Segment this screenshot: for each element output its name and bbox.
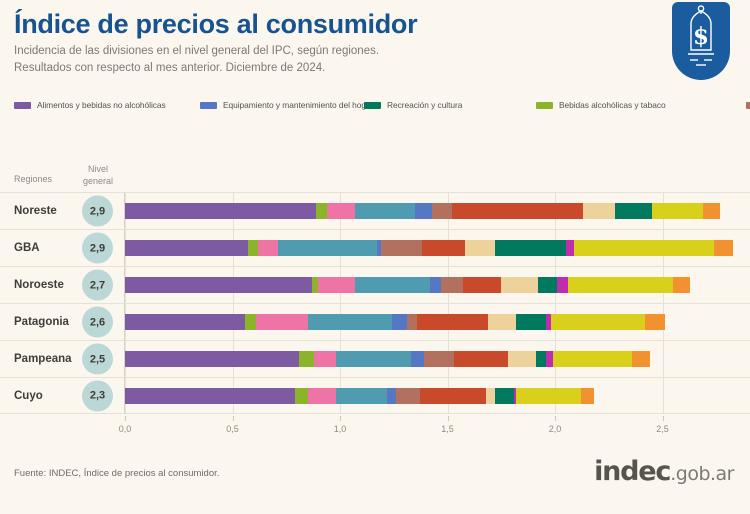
bar-segment[interactable] [495, 240, 566, 256]
bar-segment[interactable] [424, 351, 454, 367]
bar-segment[interactable] [574, 240, 714, 256]
bar-segment[interactable] [392, 314, 407, 330]
bar-segment[interactable] [488, 314, 516, 330]
header: Índice de precios al consumidor Incidenc… [0, 0, 750, 90]
bar-segment[interactable] [486, 388, 495, 404]
region-label: GBA [14, 242, 40, 254]
region-label: Noreste [14, 205, 57, 217]
chart-legend: Alimentos y bebidas no alcohólicasEquipa… [14, 98, 742, 112]
bar-segment[interactable] [278, 240, 377, 256]
indec-brand-logo[interactable]: indec.gob.ar [594, 456, 734, 487]
svg-text:$: $ [693, 23, 709, 50]
bar-segment[interactable] [256, 314, 308, 330]
bar-segment[interactable] [308, 314, 392, 330]
axis-tick-label: 2,0 [549, 424, 562, 434]
indec-shield-icon: $ [672, 2, 730, 80]
bar-segment[interactable] [516, 388, 581, 404]
header-nivel-line2: general [76, 176, 120, 188]
legend-swatch-icon [14, 102, 31, 109]
bar-segment[interactable] [632, 351, 649, 367]
stacked-bar [125, 203, 750, 219]
bar-segment[interactable] [420, 388, 487, 404]
bar-segment[interactable] [318, 277, 355, 293]
bar-segment[interactable] [615, 203, 652, 219]
table-row[interactable]: Noroeste2,7 [0, 266, 750, 303]
header-nivel-general: Nivel general [76, 164, 120, 187]
source-note: Fuente: INDEC, Índice de precios al cons… [14, 468, 219, 479]
bar-segment[interactable] [495, 388, 514, 404]
bar-segment[interactable] [411, 351, 424, 367]
nivel-general-badge: 2,9 [82, 233, 113, 264]
stacked-bar [125, 277, 750, 293]
table-row[interactable]: Noreste2,9 [0, 192, 750, 229]
axis-tick-mark [663, 416, 664, 421]
bar-segment[interactable] [336, 351, 411, 367]
bar-segment[interactable] [538, 277, 557, 293]
bar-segment[interactable] [245, 314, 256, 330]
brand-sub-text: .gob.ar [670, 463, 734, 485]
table-row[interactable]: GBA2,9 [0, 229, 750, 266]
bar-segment[interactable] [314, 351, 336, 367]
bar-segment[interactable] [381, 240, 422, 256]
axis-tick-mark [448, 416, 449, 421]
bar-segment[interactable] [454, 351, 508, 367]
bar-segment[interactable] [355, 277, 430, 293]
bar-segment[interactable] [125, 314, 245, 330]
header-regiones: Regiones [14, 174, 52, 184]
bar-segment[interactable] [536, 351, 547, 367]
region-label: Pampeana [14, 353, 72, 365]
legend-item[interactable]: Bebidas alcohólicas y tabaco [536, 98, 746, 112]
bar-segment[interactable] [415, 203, 432, 219]
bar-segment[interactable] [566, 240, 575, 256]
page-subtitle-line2: Resultados con respecto al mes anterior.… [14, 60, 736, 77]
nivel-general-badge: 2,5 [82, 344, 113, 375]
bar-segment[interactable] [465, 240, 495, 256]
legend-item[interactable]: Equipamiento y mantenimiento del hogar [200, 98, 364, 112]
bar-segment[interactable] [432, 203, 451, 219]
legend-item[interactable]: Alimentos y bebidas no alcohólicas [14, 98, 200, 112]
bar-segment[interactable] [308, 388, 336, 404]
bar-segment[interactable] [508, 351, 536, 367]
region-label: Noroeste [14, 279, 64, 291]
bar-segment[interactable] [463, 277, 502, 293]
axis-tick-label: 1,5 [441, 424, 454, 434]
bar-segment[interactable] [516, 314, 546, 330]
table-row[interactable]: Cuyo2,3 [0, 377, 750, 414]
bar-segment[interactable] [583, 203, 615, 219]
table-column-headers: Regiones Nivel general [0, 162, 750, 192]
x-axis: 0,00,51,01,52,02,5 [0, 416, 750, 442]
bar-segment[interactable] [355, 203, 415, 219]
bar-segment[interactable] [501, 277, 538, 293]
axis-tick-label: 2,5 [656, 424, 669, 434]
bar-segment[interactable] [557, 277, 568, 293]
stacked-bar [125, 388, 750, 404]
bar-segment[interactable] [703, 203, 720, 219]
bar-segment[interactable] [551, 314, 646, 330]
bar-segment[interactable] [581, 388, 594, 404]
axis-tick-label: 0,0 [119, 424, 132, 434]
bar-segment[interactable] [568, 277, 673, 293]
bar-segment[interactable] [673, 277, 690, 293]
table-row[interactable]: Patagonia2,6 [0, 303, 750, 340]
legend-swatch-icon [746, 102, 750, 109]
legend-swatch-icon [364, 102, 381, 109]
legend-item-label: Recreación y cultura [387, 100, 462, 110]
bar-segment[interactable] [407, 314, 418, 330]
axis-tick-mark [340, 416, 341, 421]
chart-rows: Noreste2,9GBA2,9Noroeste2,7Patagonia2,6P… [0, 192, 750, 414]
axis-tick-label: 0,5 [226, 424, 239, 434]
region-label: Cuyo [14, 390, 43, 402]
bar-segment[interactable] [645, 314, 664, 330]
bar-segment[interactable] [387, 388, 396, 404]
header-nivel-line1: Nivel [76, 164, 120, 176]
bar-segment[interactable] [652, 203, 704, 219]
brand-main-text: indec [594, 456, 670, 487]
bar-segment[interactable] [125, 388, 295, 404]
legend-item-label: Bebidas alcohólicas y tabaco [559, 100, 666, 110]
bar-segment[interactable] [258, 240, 277, 256]
axis-tick-mark [555, 416, 556, 421]
footer: Fuente: INDEC, Índice de precios al cons… [0, 456, 750, 514]
legend-swatch-icon [536, 102, 553, 109]
bar-segment[interactable] [299, 351, 314, 367]
legend-swatch-icon [200, 102, 217, 109]
bar-segment[interactable] [125, 240, 248, 256]
bar-segment[interactable] [327, 203, 355, 219]
bar-segment[interactable] [441, 277, 463, 293]
bar-segment[interactable] [316, 203, 327, 219]
bar-segment[interactable] [336, 388, 388, 404]
nivel-general-badge: 2,7 [82, 270, 113, 301]
region-label: Patagonia [14, 316, 69, 328]
bar-segment[interactable] [417, 314, 488, 330]
legend-item-label: Equipamiento y mantenimiento del hogar [223, 100, 373, 110]
legend-item-label: Alimentos y bebidas no alcohólicas [37, 100, 166, 110]
bar-segment[interactable] [452, 203, 583, 219]
axis-tick-mark [233, 416, 234, 421]
axis-tick-label: 1,0 [334, 424, 347, 434]
bar-segment[interactable] [295, 388, 308, 404]
nivel-general-badge: 2,9 [82, 196, 113, 227]
bar-segment[interactable] [430, 277, 441, 293]
bar-segment[interactable] [248, 240, 259, 256]
bar-segment[interactable] [125, 203, 316, 219]
stacked-bar [125, 351, 750, 367]
bar-segment[interactable] [125, 351, 299, 367]
bar-segment[interactable] [422, 240, 465, 256]
legend-item[interactable]: Salud [746, 98, 750, 112]
table-row[interactable]: Pampeana2,5 [0, 340, 750, 377]
nivel-general-badge: 2,6 [82, 307, 113, 338]
page-subtitle-line1: Incidencia de las divisiones en el nivel… [14, 43, 736, 60]
stacked-bar [125, 314, 750, 330]
bar-segment[interactable] [125, 277, 312, 293]
legend-item[interactable]: Recreación y cultura [364, 98, 536, 112]
bar-segment[interactable] [396, 388, 420, 404]
bar-segment[interactable] [714, 240, 733, 256]
axis-tick-mark [125, 416, 126, 421]
nivel-general-badge: 2,3 [82, 380, 113, 411]
chart-area: Regiones Nivel general Noreste2,9GBA2,9N… [0, 162, 750, 442]
page-title: Índice de precios al consumidor [14, 10, 736, 38]
stacked-bar [125, 240, 750, 256]
bar-segment[interactable] [553, 351, 633, 367]
